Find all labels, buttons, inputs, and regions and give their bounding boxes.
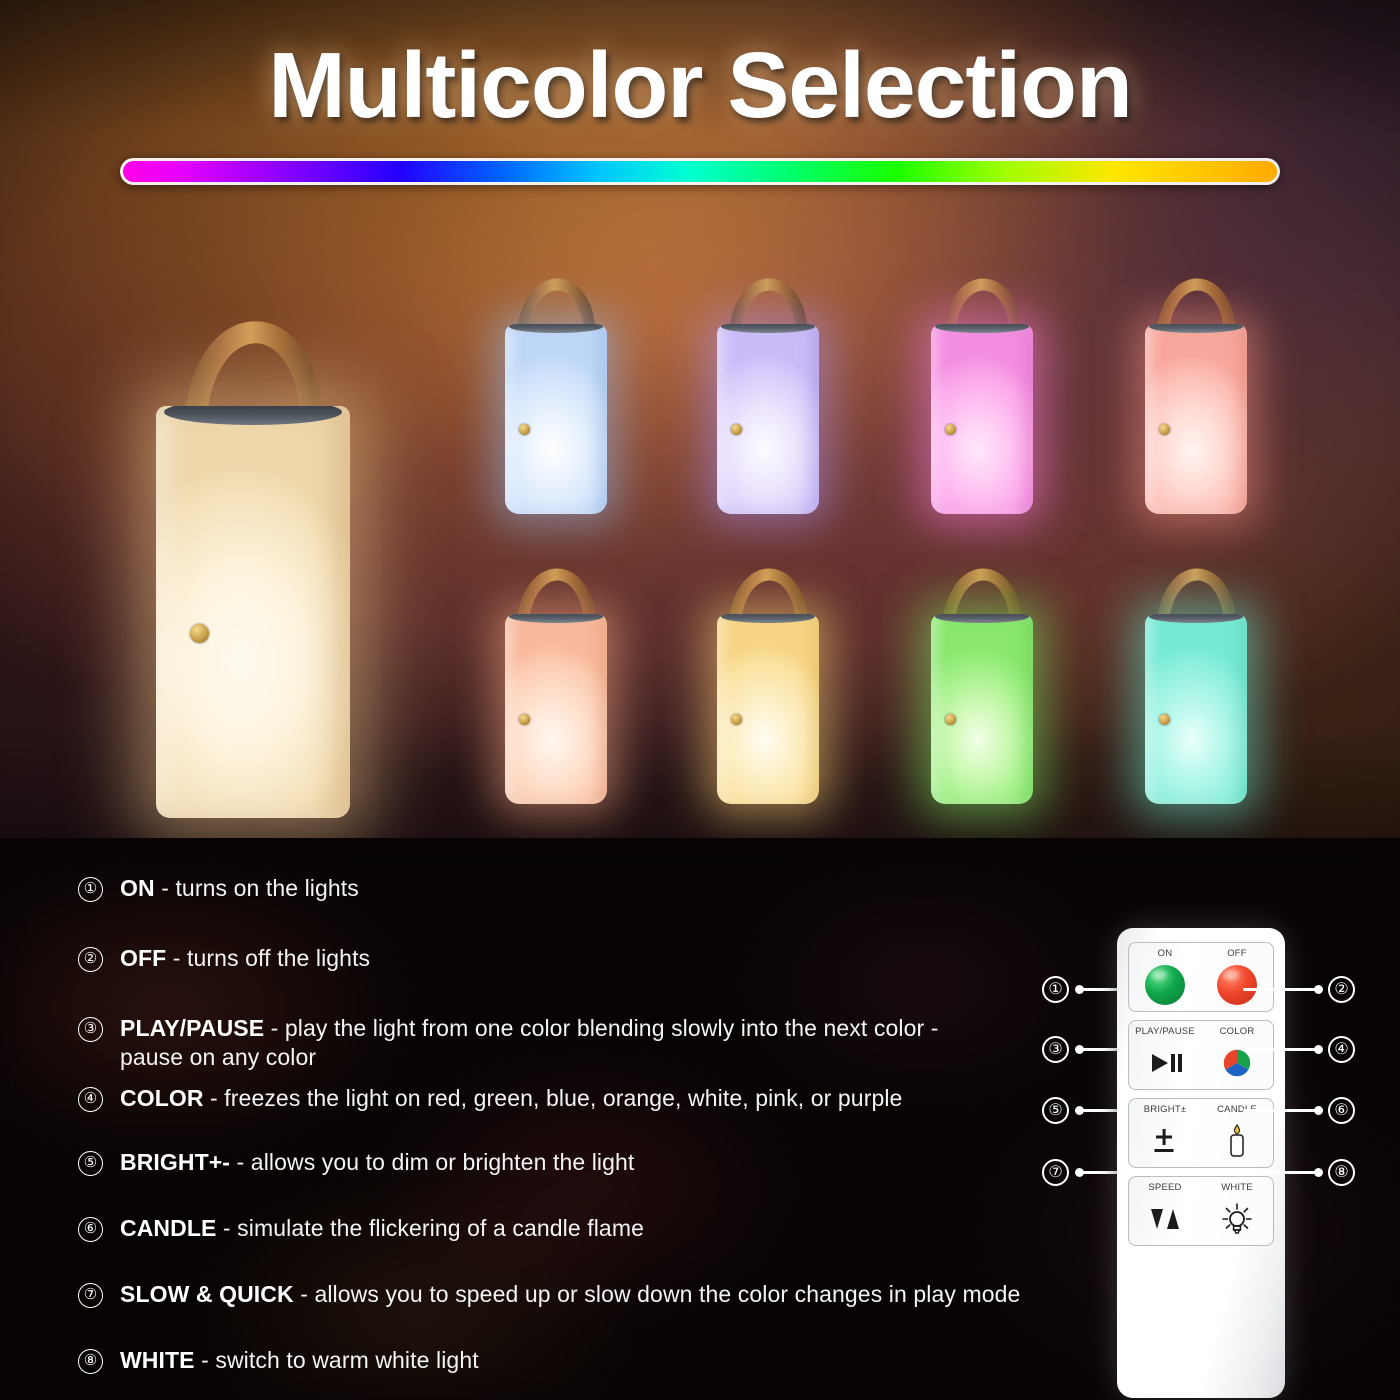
feature-number: ③ [78, 1017, 103, 1042]
feature-term: BRIGHT+- [120, 1149, 230, 1175]
feature-desc: - allows you to speed up or slow down th… [294, 1281, 1021, 1307]
play-pause-button[interactable] [1129, 1041, 1201, 1085]
play-pause-icon [1146, 1051, 1184, 1075]
callout-number: ② [1328, 976, 1355, 1003]
lamp-light-blue [500, 250, 612, 525]
list-item: ② OFF - turns off the lights [78, 944, 978, 973]
callout-line [1243, 1048, 1321, 1051]
remote-group-speed-white: SPEED WHITE [1128, 1176, 1274, 1246]
candle-icon [1225, 1124, 1249, 1158]
feature-text: PLAY/PAUSE - play the light from one col… [120, 1014, 978, 1072]
callout-dot [1314, 985, 1323, 994]
remote-label-speed: SPEED [1129, 1182, 1201, 1193]
product-infographic: Multicolor Selection [0, 0, 1400, 1400]
list-item: ① ON - turns on the lights [78, 874, 978, 903]
feature-desc: - allows you to dim or brighten the ligh… [230, 1149, 634, 1175]
hero-lamp-warm-white [148, 228, 358, 828]
lamp-warm-yellow [712, 540, 824, 815]
callout-dot [1314, 1168, 1323, 1177]
lamp-glass-body [931, 614, 1033, 804]
lamp-purple [712, 250, 824, 525]
lamp-top-rim [1149, 614, 1243, 623]
feature-text: OFF - turns off the lights [120, 944, 370, 973]
off-button[interactable] [1201, 963, 1273, 1007]
feature-term: WHITE [120, 1347, 195, 1373]
remote-label-play-pause: PLAY/PAUSE [1129, 1026, 1201, 1037]
page-title: Multicolor Selection [0, 32, 1400, 139]
bright-button[interactable] [1129, 1119, 1201, 1163]
lamp-top-rim [721, 324, 815, 333]
lamp-glass-body [717, 614, 819, 804]
feature-text: BRIGHT+- - allows you to dim or brighten… [120, 1148, 634, 1177]
lamp-rivet [519, 714, 530, 725]
feature-number: ② [78, 947, 103, 972]
lamp-cyan [1140, 540, 1252, 815]
remote-label-color: COLOR [1201, 1026, 1273, 1037]
lamp-glass-body [1145, 614, 1247, 804]
lamp-rivet [945, 424, 956, 435]
feature-text: CANDLE - simulate the flickering of a ca… [120, 1214, 644, 1243]
list-item: ⑥ CANDLE - simulate the flickering of a … [78, 1214, 978, 1243]
feature-term: SLOW & QUICK [120, 1281, 294, 1307]
lamp-glass-body [717, 324, 819, 514]
callout-line [1243, 988, 1321, 991]
callout-line [1243, 1171, 1321, 1174]
remote-group-power: ON OFF [1128, 942, 1274, 1012]
lamp-glass-body [505, 324, 607, 514]
feature-term: CANDLE [120, 1215, 216, 1241]
callout-dot [1314, 1045, 1323, 1054]
lamp-top-rim [1149, 324, 1243, 333]
callout-number: ⑦ [1042, 1159, 1069, 1186]
callout-number: ③ [1042, 1036, 1069, 1063]
red-circle-icon [1217, 965, 1257, 1005]
lamp-rivet [519, 424, 530, 435]
lamp-red [1140, 250, 1252, 525]
list-item: ⑦ SLOW & QUICK - allows you to speed up … [78, 1280, 1078, 1309]
callout-number: ⑤ [1042, 1097, 1069, 1124]
feature-number: ⑥ [78, 1217, 103, 1242]
feature-number: ⑦ [78, 1283, 103, 1308]
lamp-rivet [945, 714, 956, 725]
lamp-top-rim [509, 614, 603, 623]
feature-list: ① ON - turns on the lights ② OFF - turns… [0, 838, 1080, 1400]
lamp-glass-body [1145, 324, 1247, 514]
callout-number: ⑧ [1328, 1159, 1355, 1186]
lamp-glass-body [931, 324, 1033, 514]
feature-text: COLOR - freezes the light on red, green,… [120, 1084, 902, 1113]
led-remote-control[interactable]: ON OFF PLAY/PAUSE COLOR [1117, 928, 1285, 1398]
lamp-top-rim [935, 324, 1029, 333]
white-button[interactable] [1201, 1197, 1273, 1241]
lamp-orange [500, 540, 612, 815]
feature-desc: - turns on the lights [155, 875, 359, 901]
lamp-rivet [190, 624, 209, 643]
lamp-rivet [731, 424, 742, 435]
color-spectrum-bar [120, 158, 1280, 185]
feature-term: COLOR [120, 1085, 204, 1111]
list-item: ⑧ WHITE - switch to warm white light [78, 1346, 978, 1375]
feature-text: SLOW & QUICK - allows you to speed up or… [120, 1280, 1020, 1309]
lamp-rivet [731, 714, 742, 725]
callout-line [1243, 1109, 1321, 1112]
on-button[interactable] [1129, 963, 1201, 1007]
callout-number: ⑥ [1328, 1097, 1355, 1124]
feature-number: ① [78, 877, 103, 902]
remote-label-off: OFF [1201, 948, 1273, 959]
remote-label-bright: BRIGHT± [1129, 1104, 1201, 1115]
feature-desc: - switch to warm white light [195, 1347, 479, 1373]
feature-number: ④ [78, 1087, 103, 1112]
feature-term: PLAY/PAUSE [120, 1015, 264, 1041]
lamp-glass-body [156, 406, 350, 818]
lamp-top-rim [721, 614, 815, 623]
list-item: ⑤ BRIGHT+- - allows you to dim or bright… [78, 1148, 978, 1177]
callout-number: ④ [1328, 1036, 1355, 1063]
spectrum-gradient [123, 161, 1277, 182]
hero-photo-section: Multicolor Selection [0, 0, 1400, 838]
green-circle-icon [1145, 965, 1185, 1005]
light-bulb-icon [1220, 1202, 1254, 1236]
lamp-rivet [1159, 714, 1170, 725]
lamp-pink [926, 250, 1038, 525]
callout-dot [1314, 1106, 1323, 1115]
list-item: ③ PLAY/PAUSE - play the light from one c… [78, 1014, 978, 1072]
remote-label-on: ON [1129, 948, 1201, 959]
list-item: ④ COLOR - freezes the light on red, gree… [78, 1084, 978, 1113]
lamp-rivet [1159, 424, 1170, 435]
remote-group-play-color: PLAY/PAUSE COLOR [1128, 1020, 1274, 1090]
speed-button[interactable] [1129, 1197, 1201, 1241]
feature-term: ON [120, 875, 155, 901]
lamp-glass-body [505, 614, 607, 804]
plus-minus-icon [1150, 1126, 1180, 1156]
feature-term: OFF [120, 945, 166, 971]
feature-text: ON - turns on the lights [120, 874, 359, 903]
callout-number: ① [1042, 976, 1069, 1003]
lamp-top-rim [164, 406, 342, 425]
feature-desc: - turns off the lights [166, 945, 370, 971]
feature-number: ⑧ [78, 1349, 103, 1374]
color-wheel-icon [1222, 1048, 1252, 1078]
lamp-top-rim [935, 614, 1029, 623]
feature-desc: - simulate the flickering of a candle fl… [216, 1215, 644, 1241]
lamp-green [926, 540, 1038, 815]
feature-number: ⑤ [78, 1151, 103, 1176]
candle-button[interactable] [1201, 1119, 1273, 1163]
lamp-top-rim [509, 324, 603, 333]
speed-arrows-icon [1148, 1206, 1182, 1232]
feature-text: WHITE - switch to warm white light [120, 1346, 479, 1375]
remote-label-white: WHITE [1201, 1182, 1273, 1193]
feature-desc: - freezes the light on red, green, blue,… [204, 1085, 903, 1111]
